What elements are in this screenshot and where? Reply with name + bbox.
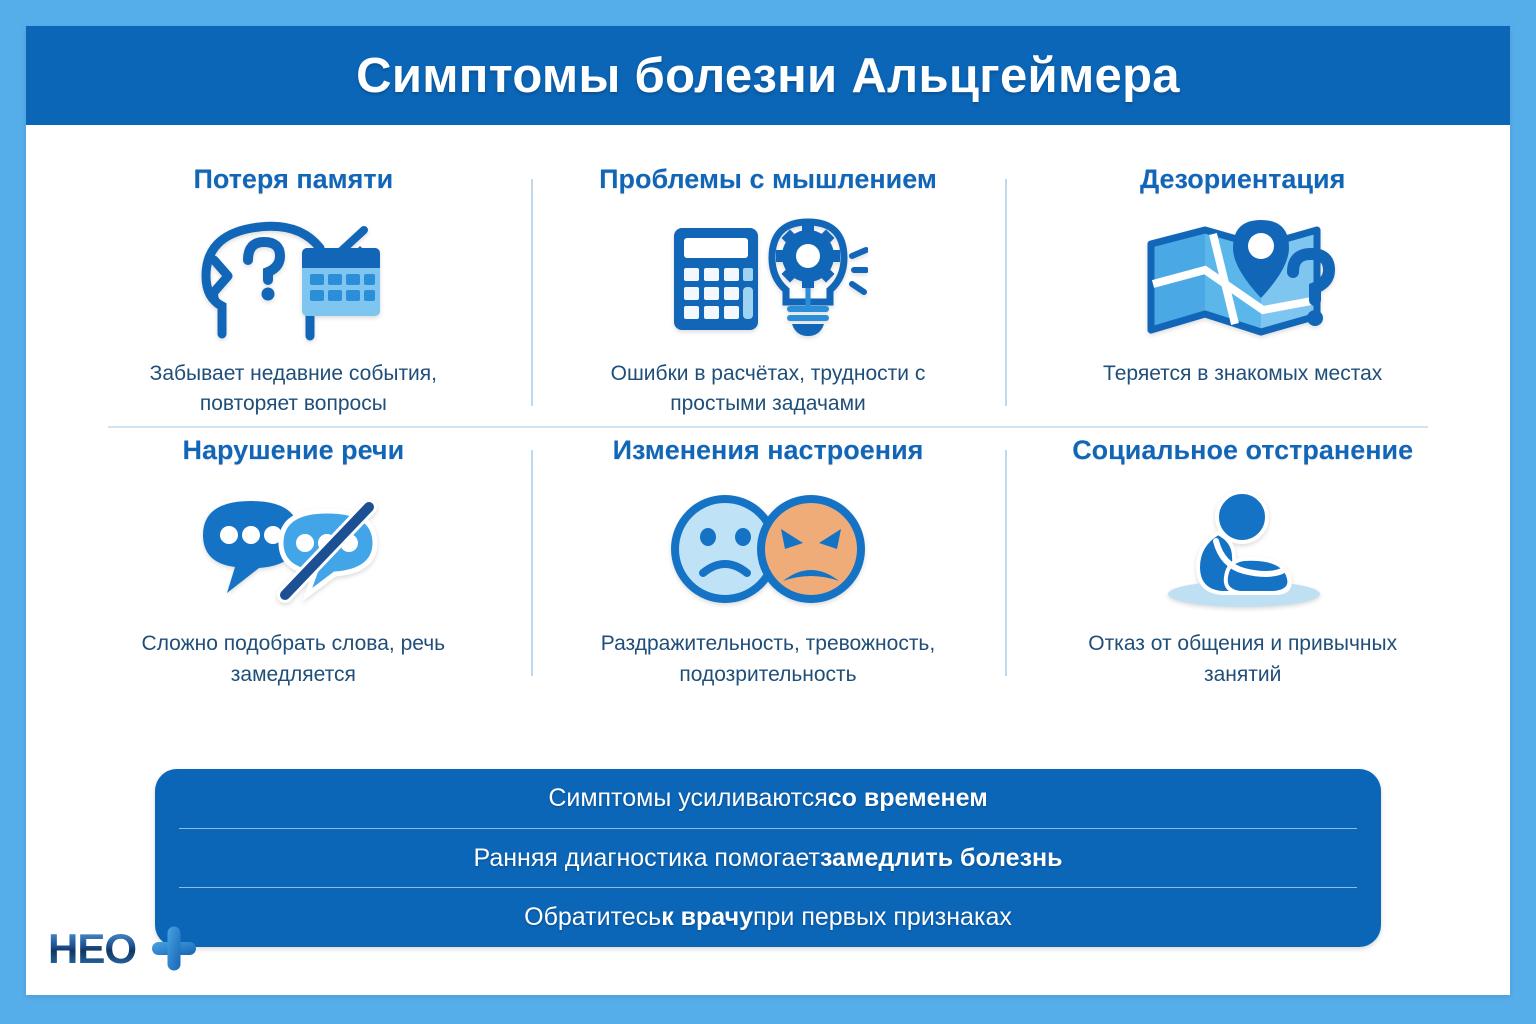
page-title: Симптомы болезни Альцгеймера — [356, 48, 1180, 104]
symptom-row-1: Потеря памяти — [56, 165, 1480, 420]
banner-line-3-tail: при первых признаках — [753, 903, 1012, 932]
neo-plus-logo: НЕО — [48, 923, 218, 975]
banner-line-1-plain: Симптомы усиливаются — [548, 784, 827, 813]
card-description: Забывает недавние события, повторяет воп… — [103, 359, 483, 420]
card-title: Изменения настроения — [613, 436, 924, 466]
card-description: Раздражительность, тревожность, подозрит… — [578, 629, 958, 690]
banner-line-1: Симптомы усиливаются со временем — [155, 769, 1381, 828]
sitting-lonely-person-icon — [1148, 479, 1338, 619]
card-description: Отказ от общения и привычных занятий — [1053, 629, 1433, 690]
row-separator — [108, 426, 1428, 428]
card-title: Потеря памяти — [193, 165, 393, 195]
symptom-card-mood-changes[interactable]: Изменения настроения Р — [531, 436, 1006, 691]
banner-line-3: Обратитесь к врачу при первых признаках — [179, 887, 1357, 947]
card-title: Дезориентация — [1140, 165, 1345, 195]
banner-line-3-plain: Обратитесь — [524, 903, 661, 932]
symptom-card-disorientation[interactable]: Дезориентация — [1005, 165, 1480, 420]
symptom-grid: Потеря памяти — [26, 125, 1510, 690]
banner-line-2: Ранняя диагностика помогает замедлить бо… — [179, 828, 1357, 888]
banner-line-1-bold: со временем — [828, 784, 988, 813]
card-title: Социальное отстранение — [1072, 436, 1413, 466]
symptom-card-thinking-problems[interactable]: Проблемы с мышлением — [531, 165, 1006, 420]
banner-line-2-plain: Ранняя диагностика помогает — [474, 844, 820, 873]
card-title: Нарушение речи — [182, 436, 404, 466]
card-title: Проблемы с мышлением — [599, 165, 937, 195]
symptom-row-2: Нарушение речи — [56, 436, 1480, 691]
card-description: Ошибки в расчётах, трудности с простыми … — [578, 359, 958, 420]
speech-bubbles-slash-icon — [193, 479, 393, 619]
symptom-card-speech-impairment[interactable]: Нарушение речи — [56, 436, 531, 691]
sad-angry-faces-icon — [663, 479, 873, 619]
calculator-lightbulb-gear-icon — [668, 209, 868, 349]
card-description: Сложно подобрать слова, речь замедляется — [103, 629, 483, 690]
symptom-card-social-withdrawal[interactable]: Социальное отстранение Отказ от общ — [1005, 436, 1480, 691]
logo-mark: НЕО — [48, 923, 218, 975]
card-description: Теряется в знакомых местах — [1103, 359, 1382, 389]
map-pin-question-icon — [1143, 209, 1343, 349]
head-question-calendar-icon — [198, 209, 388, 349]
svg-text:НЕО: НЕО — [48, 925, 136, 972]
header-bar: Симптомы болезни Альцгеймера — [26, 26, 1510, 125]
poster-canvas: Симптомы болезни Альцгеймера Потеря памя… — [26, 26, 1510, 995]
banner-line-2-bold: замедлить болезнь — [820, 844, 1063, 873]
symptom-card-memory-loss[interactable]: Потеря памяти — [56, 165, 531, 420]
key-message-banner: Симптомы усиливаются со временем Ранняя … — [155, 769, 1381, 947]
banner-line-3-bold: к врачу — [661, 903, 753, 932]
